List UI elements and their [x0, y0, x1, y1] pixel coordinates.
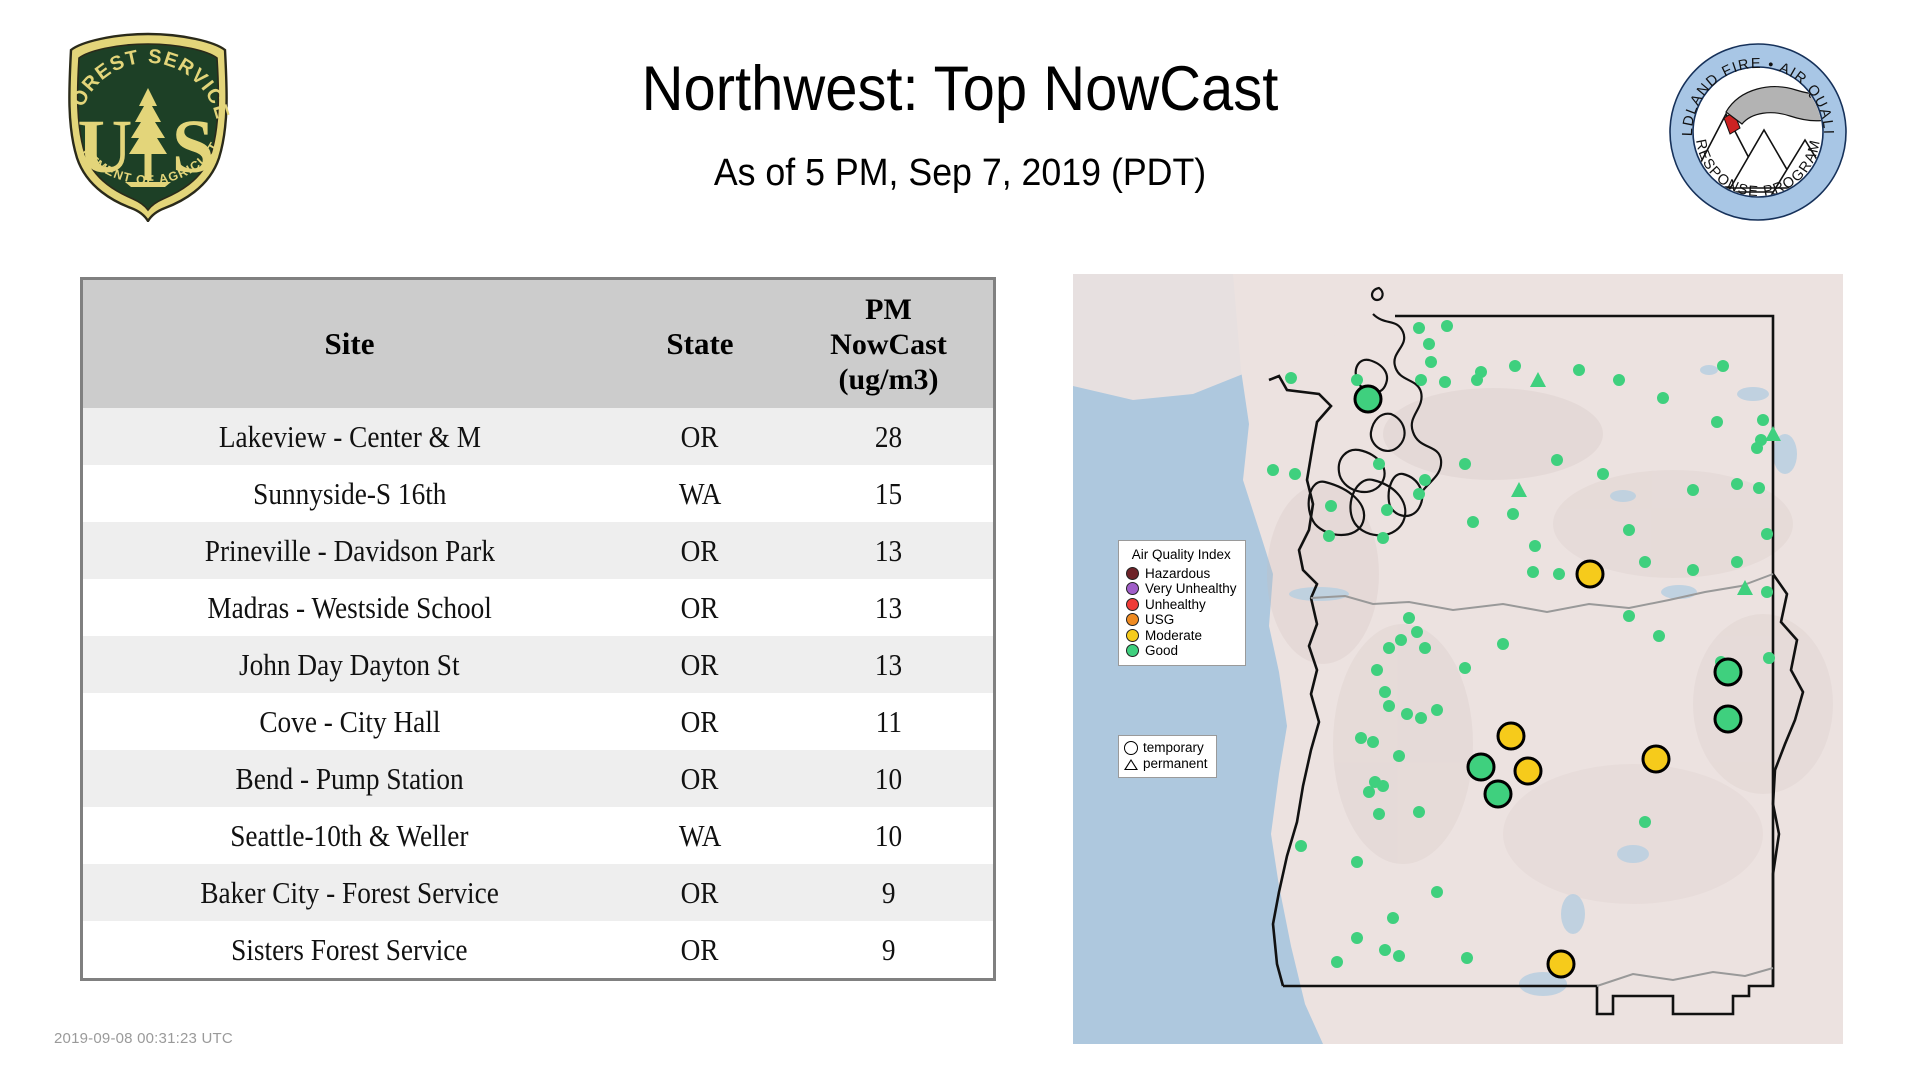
cell-state: OR [616, 579, 784, 636]
highlighted-site-marker[interactable] [1485, 781, 1511, 807]
legend-item-label: Hazardous [1145, 566, 1210, 582]
highlighted-site-marker[interactable] [1715, 659, 1741, 685]
nowcast-table: Site State PM NowCast (ug/m3) Lakeview -… [83, 280, 993, 978]
legend-item-unhealthy: Unhealthy [1126, 597, 1237, 613]
table-row: Seattle-10th & WellerWA10 [83, 807, 993, 864]
triangle-marker-icon [1124, 759, 1138, 770]
generated-timestamp: 2019-09-08 00:31:23 UTC [54, 1030, 233, 1047]
column-header-state: State [616, 280, 784, 408]
legend-label-permanent: permanent [1143, 756, 1208, 772]
legend-title: Air Quality Index [1126, 547, 1237, 563]
cell-state: OR [616, 408, 784, 465]
cell-pm-nowcast: 11 [784, 693, 993, 750]
cell-pm-nowcast: 9 [784, 864, 993, 921]
legend-item-label: Very Unhealthy [1145, 581, 1237, 597]
cell-state: OR [616, 750, 784, 807]
cell-site: Sisters Forest Service [83, 921, 616, 978]
highlighted-site-marker[interactable] [1715, 706, 1741, 732]
cell-state: OR [616, 636, 784, 693]
cell-pm-nowcast: 9 [784, 921, 993, 978]
legend-item-label: Good [1145, 643, 1178, 659]
table-row: John Day Dayton StOR13 [83, 636, 993, 693]
aqi-color-dot-icon [1126, 582, 1139, 595]
pm-header-line-3: (ug/m3) [788, 362, 989, 397]
table-row: Sisters Forest ServiceOR9 [83, 921, 993, 978]
cell-site: Cove - City Hall [83, 693, 616, 750]
cell-site: Bend - Pump Station [83, 750, 616, 807]
cell-site: Sunnyside-S 16th [83, 465, 616, 522]
legend-row-temporary: temporary [1124, 740, 1208, 756]
table-row: Lakeview - Center & MOR28 [83, 408, 993, 465]
cell-pm-nowcast: 13 [784, 636, 993, 693]
cell-state: OR [616, 921, 784, 978]
cell-pm-nowcast: 15 [784, 465, 993, 522]
cell-state: WA [616, 465, 784, 522]
legend-item-label: USG [1145, 612, 1174, 628]
table-row: Prineville - Davidson ParkOR13 [83, 522, 993, 579]
table-header: Site State PM NowCast (ug/m3) [83, 280, 993, 408]
cell-state: WA [616, 807, 784, 864]
highlighted-site-marker[interactable] [1577, 561, 1603, 587]
legend-item-hazardous: Hazardous [1126, 566, 1237, 582]
legend-item-usg: USG [1126, 612, 1237, 628]
cell-pm-nowcast: 10 [784, 750, 993, 807]
table-row: Madras - Westside SchoolOR13 [83, 579, 993, 636]
cell-pm-nowcast: 13 [784, 522, 993, 579]
highlighted-site-marker[interactable] [1468, 754, 1494, 780]
aqi-color-dot-icon [1126, 598, 1139, 611]
highlighted-site-marker[interactable] [1498, 723, 1524, 749]
pm-header-line-1: PM [788, 292, 989, 327]
highlighted-site-marker[interactable] [1355, 386, 1381, 412]
page-title: Northwest: Top NowCast [353, 54, 1567, 124]
cell-site: Lakeview - Center & M [83, 408, 616, 465]
table-row: Sunnyside-S 16thWA15 [83, 465, 993, 522]
legend-item-good: Good [1126, 643, 1237, 659]
cell-site: Seattle-10th & Weller [83, 807, 616, 864]
table-body: Lakeview - Center & MOR28Sunnyside-S 16t… [83, 408, 993, 978]
table-header-row: Site State PM NowCast (ug/m3) [83, 280, 993, 408]
legend-item-label: Moderate [1145, 628, 1202, 644]
legend-row-permanent: permanent [1124, 756, 1208, 772]
legend-air-quality-index: Air Quality Index HazardousVery Unhealth… [1118, 540, 1246, 666]
cell-pm-nowcast: 10 [784, 807, 993, 864]
aqi-color-dot-icon [1126, 629, 1139, 642]
legend-station-type: temporary permanent [1118, 735, 1217, 778]
nowcast-table-container: Site State PM NowCast (ug/m3) Lakeview -… [80, 277, 996, 981]
table-row: Cove - City HallOR11 [83, 693, 993, 750]
table-row: Bend - Pump StationOR10 [83, 750, 993, 807]
northwest-aqi-map[interactable]: Air Quality Index HazardousVery Unhealth… [1073, 274, 1843, 1044]
legend-item-moderate: Moderate [1126, 628, 1237, 644]
cell-site: Baker City - Forest Service [83, 864, 616, 921]
circle-marker-icon [1124, 741, 1138, 755]
cell-state: OR [616, 864, 784, 921]
legend-item-very-unhealthy: Very Unhealthy [1126, 581, 1237, 597]
highlighted-site-marker[interactable] [1515, 758, 1541, 784]
cell-site: Prineville - Davidson Park [83, 522, 616, 579]
cell-state: OR [616, 522, 784, 579]
highlighted-site-marker[interactable] [1643, 746, 1669, 772]
page-subtitle: As of 5 PM, Sep 7, 2019 (PDT) [340, 150, 1581, 196]
table-row: Baker City - Forest ServiceOR9 [83, 864, 993, 921]
aqi-color-dot-icon [1126, 567, 1139, 580]
cell-pm-nowcast: 28 [784, 408, 993, 465]
pm-header-line-2: NowCast [788, 327, 989, 362]
legend-item-label: Unhealthy [1145, 597, 1206, 613]
usda-forest-service-logo: FOREST SERVICE DEPARTMENT OF AGRICULTURE… [53, 30, 243, 222]
column-header-pm-nowcast: PM NowCast (ug/m3) [784, 280, 993, 408]
column-header-site: Site [83, 280, 616, 408]
legend-label-temporary: temporary [1143, 740, 1204, 756]
cell-state: OR [616, 693, 784, 750]
cell-pm-nowcast: 13 [784, 579, 993, 636]
highlighted-site-marker[interactable] [1548, 951, 1574, 977]
svg-text:U: U [78, 105, 133, 189]
wildland-fire-air-quality-logo: WILDLAND FIRE • AIR QUALITY RESPONSE PRO… [1668, 42, 1848, 222]
cell-site: John Day Dayton St [83, 636, 616, 693]
slide-root: FOREST SERVICE DEPARTMENT OF AGRICULTURE… [0, 0, 1920, 1080]
aqi-color-dot-icon [1126, 644, 1139, 657]
cell-site: Madras - Westside School [83, 579, 616, 636]
aqi-color-dot-icon [1126, 613, 1139, 626]
svg-text:S: S [172, 105, 214, 189]
